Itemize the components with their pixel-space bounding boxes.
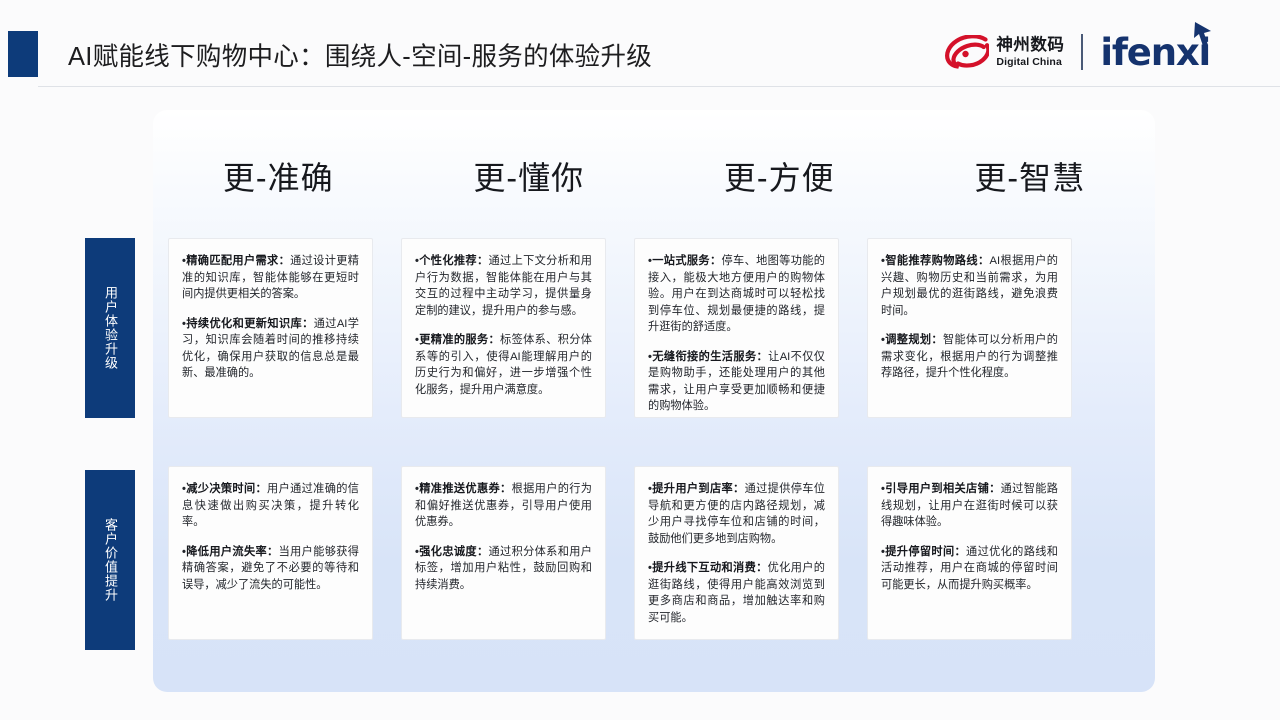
column-header-3: 更-智慧	[905, 152, 1156, 204]
bullet-term: 无缝衔接的生活服务：	[652, 351, 768, 363]
ifenxi-logo: ifenxi	[1100, 34, 1210, 71]
card-row-1: •减少决策时间：用户通过准确的信息快速做出购买决策，提升转化率。 •降低用户流失…	[168, 466, 1108, 640]
bullet-term: 个性化推荐：	[419, 255, 489, 267]
bullet: •强化忠诚度：通过积分体系和用户标签，增加用户粘性，鼓励回购和持续消费。	[415, 544, 592, 594]
swirl-logo-icon	[945, 35, 989, 69]
bullet: •智能推荐购物路线：AI根据用户的兴趣、购物历史和当前需求，为用户规划最优的逛街…	[881, 253, 1058, 319]
digital-china-cn-name: 神州数码	[996, 37, 1064, 54]
bullet: •精确匹配用户需求：通过设计更精准的知识库，智能体能够在更短时间内提供更相关的答…	[182, 253, 359, 303]
bullet-term: 提升线下互动和消费：	[652, 562, 768, 574]
slide-header: AI赋能线下购物中心：围绕人-空间-服务的体验升级 神州数码 Digital C…	[0, 0, 1280, 87]
digital-china-logo: 神州数码 Digital China	[945, 35, 1064, 69]
bullet: •引导用户到相关店铺：通过智能路线规划，让用户在逛街时候可以获得趣味体验。	[881, 481, 1058, 531]
bullet: •降低用户流失率：当用户能够获得精确答案，避免了不必要的等待和误导，减少了流失的…	[182, 544, 359, 594]
bullet-term: 提升停留时间：	[885, 546, 966, 558]
column-header-row: 更-准确 更-懂你 更-方便 更-智慧	[153, 152, 1155, 204]
bullet-term: 降低用户流失率：	[186, 546, 279, 558]
bullet-term: 提升用户到店率：	[652, 483, 745, 495]
bullet: •精准推送优惠券：根据用户的行为和偏好推送优惠券，引导用户使用优惠券。	[415, 481, 592, 531]
bullet: •减少决策时间：用户通过准确的信息快速做出购买决策，提升转化率。	[182, 481, 359, 531]
bullet: •持续优化和更新知识库：通过AI学习，知识库会随着时间的推移持续优化，确保用户获…	[182, 316, 359, 382]
page-title: AI赋能线下购物中心：围绕人-空间-服务的体验升级	[68, 36, 652, 73]
bullet: •提升用户到店率：通过提供停车位导航和更方便的店内路径规划，减少用户寻找停车位和…	[648, 481, 825, 547]
bullet-term: 强化忠诚度：	[419, 546, 489, 558]
card-r0-c1[interactable]: •个性化推荐：通过上下文分析和用户行为数据，智能体能在用户与其交互的过程中主动学…	[401, 238, 606, 418]
bullet: •个性化推荐：通过上下文分析和用户行为数据，智能体能在用户与其交互的过程中主动学…	[415, 253, 592, 319]
bullet: •更精准的服务：标签体系、积分体系等的引入，使得AI能理解用户的历史行为和偏好，…	[415, 332, 592, 398]
digital-china-en-name: Digital China	[996, 57, 1064, 68]
bullet: •无缝衔接的生活服务：让AI不仅仅是购物助手，还能处理用户的其他需求，让用户享受…	[648, 349, 825, 415]
digital-china-wordmark: 神州数码 Digital China	[996, 37, 1064, 67]
column-header-1: 更-懂你	[404, 152, 655, 204]
bullet: •提升线下互动和消费：优化用户的逛街路线，使得用户能高效浏览到更多商店和商品，增…	[648, 560, 825, 626]
bullet-term: 减少决策时间：	[186, 483, 267, 495]
bullet: •调整规划：智能体可以分析用户的需求变化，根据用户的行为调整推荐路径，提升个性化…	[881, 332, 1058, 382]
bullet-term: 精准推送优惠券：	[419, 483, 512, 495]
bullet-term: 持续优化和更新知识库：	[186, 318, 314, 330]
card-row-0: •精确匹配用户需求：通过设计更精准的知识库，智能体能够在更短时间内提供更相关的答…	[168, 238, 1108, 418]
logo-divider	[1081, 34, 1083, 70]
header-divider	[38, 86, 1280, 87]
row-label-user-experience: 用户体验升级	[85, 238, 135, 418]
column-header-0: 更-准确	[153, 152, 404, 204]
logo-group: 神州数码 Digital China ifenxi	[945, 30, 1210, 74]
slide-canvas: AI赋能线下购物中心：围绕人-空间-服务的体验升级 神州数码 Digital C…	[0, 0, 1280, 720]
bullet-term: 智能推荐购物路线：	[885, 255, 990, 267]
card-r0-c2[interactable]: •一站式服务：停车、地图等功能的接入，能极大地方便用户的购物体验。用户在到达商城…	[634, 238, 839, 418]
bullet: •提升停留时间：通过优化的路线和活动推荐，用户在商城的停留时间可能更长，从而提升…	[881, 544, 1058, 594]
arrow-mark-icon	[1193, 21, 1213, 47]
bullet-term: 更精准的服务：	[419, 334, 500, 346]
bullet-term: 调整规划：	[885, 334, 943, 346]
bullet-term: 引导用户到相关店铺：	[885, 483, 1001, 495]
bullet-term: 精确匹配用户需求：	[186, 255, 290, 267]
header-accent-block	[8, 31, 38, 77]
card-r0-c3[interactable]: •智能推荐购物路线：AI根据用户的兴趣、购物历史和当前需求，为用户规划最优的逛街…	[867, 238, 1072, 418]
card-r1-c2[interactable]: •提升用户到店率：通过提供停车位导航和更方便的店内路径规划，减少用户寻找停车位和…	[634, 466, 839, 640]
card-r1-c1[interactable]: •精准推送优惠券：根据用户的行为和偏好推送优惠券，引导用户使用优惠券。 •强化忠…	[401, 466, 606, 640]
bullet: •一站式服务：停车、地图等功能的接入，能极大地方便用户的购物体验。用户在到达商城…	[648, 253, 825, 336]
card-r0-c0[interactable]: •精确匹配用户需求：通过设计更精准的知识库，智能体能够在更短时间内提供更相关的答…	[168, 238, 373, 418]
card-r1-c0[interactable]: •减少决策时间：用户通过准确的信息快速做出购买决策，提升转化率。 •降低用户流失…	[168, 466, 373, 640]
bullet-term: 一站式服务：	[652, 255, 722, 267]
column-header-2: 更-方便	[654, 152, 905, 204]
row-label-customer-value: 客户价值提升	[85, 470, 135, 650]
card-r1-c3[interactable]: •引导用户到相关店铺：通过智能路线规划，让用户在逛街时候可以获得趣味体验。 •提…	[867, 466, 1072, 640]
